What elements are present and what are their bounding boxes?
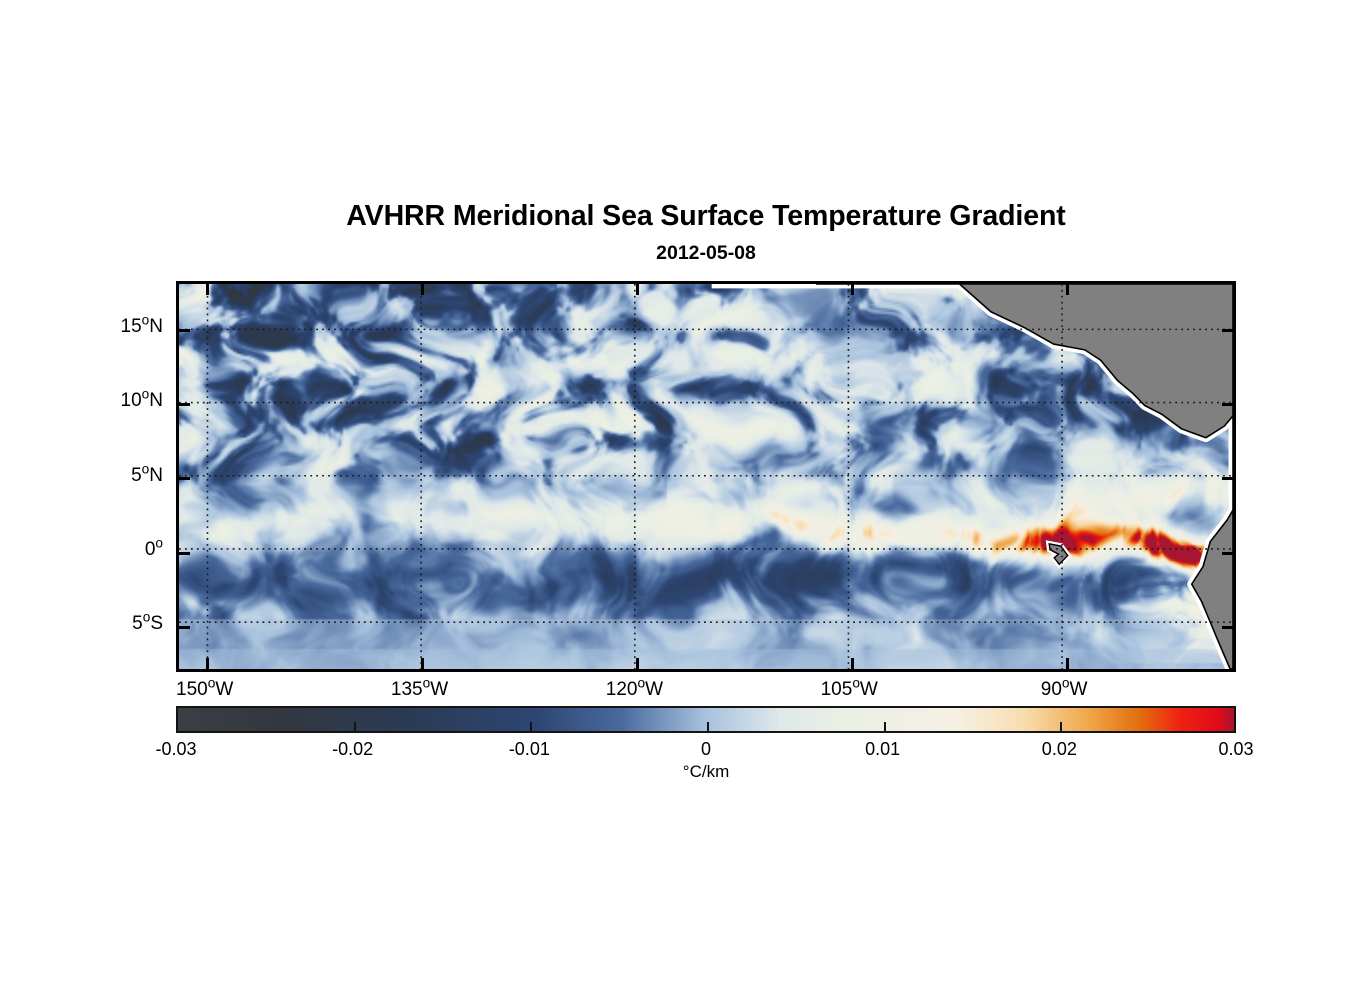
colorbar-label-2: -0.01: [509, 739, 550, 760]
y-tick-0eq: [179, 552, 190, 555]
x-label-value: 135: [391, 679, 423, 700]
y-label-value: 15: [121, 316, 142, 337]
x-tick-90W: [1066, 658, 1069, 669]
y-tick-10N: [179, 403, 190, 406]
colorbar-tick-2: [530, 722, 532, 731]
x-label-hemisphere: W: [215, 679, 233, 700]
colorbar-gradient-fill: [178, 708, 1234, 731]
y-axis-label-10N: 10oN: [0, 390, 163, 412]
y-label-value: 0: [145, 539, 156, 560]
x-axis-label-135W: 135oW: [391, 679, 448, 701]
colorbar-tick-1: [354, 722, 356, 731]
y-tick-15N: [179, 329, 190, 332]
degree-symbol-icon: o: [1062, 676, 1070, 691]
colorbar-label-3: 0: [701, 739, 711, 760]
colorbar-tick-5: [1060, 722, 1062, 731]
x-tick-105W: [851, 658, 854, 669]
y-tick-15N: [1222, 329, 1233, 332]
colorbar: [176, 706, 1236, 733]
x-tick-135W: [421, 658, 424, 669]
map-axes: [176, 281, 1236, 672]
y-label-hemisphere: N: [149, 465, 163, 486]
degree-symbol-icon: o: [155, 536, 163, 551]
colorbar-label-5: 0.02: [1042, 739, 1077, 760]
x-axis-label-105W: 105oW: [821, 679, 878, 701]
y-label-value: 10: [121, 390, 142, 411]
y-tick-10N: [1222, 403, 1233, 406]
y-tick-5S: [1222, 626, 1233, 629]
x-tick-150W: [206, 658, 209, 669]
y-tick-5S: [179, 626, 190, 629]
x-axis-label-150W: 150oW: [176, 679, 233, 701]
y-axis-label-5S: 5oS: [0, 613, 163, 635]
figure-canvas: AVHRR Meridional Sea Surface Temperature…: [0, 0, 1356, 1000]
x-label-hemisphere: W: [860, 679, 878, 700]
x-tick-90W: [1066, 284, 1069, 295]
colorbar-tick-4: [884, 722, 886, 731]
colorbar-label-1: -0.02: [332, 739, 373, 760]
x-axis-label-120W: 120oW: [606, 679, 663, 701]
title-block: AVHRR Meridional Sea Surface Temperature…: [176, 200, 1236, 264]
y-label-value: 5: [132, 613, 143, 634]
x-label-value: 105: [821, 679, 853, 700]
colorbar-label-0: -0.03: [155, 739, 196, 760]
landmass-overlay: [179, 284, 1233, 669]
y-label-hemisphere: N: [149, 316, 163, 337]
x-tick-105W: [851, 284, 854, 295]
colorbar-label-4: 0.01: [865, 739, 900, 760]
land-mass-central-south-america: [813, 284, 1233, 669]
y-axis-label-15N: 15oN: [0, 316, 163, 338]
x-tick-135W: [421, 284, 424, 295]
colorbar-tick-3: [707, 722, 709, 731]
y-tick-5N: [179, 477, 190, 480]
x-label-hemisphere: W: [645, 679, 663, 700]
y-tick-5N: [1222, 477, 1233, 480]
x-tick-120W: [636, 658, 639, 669]
x-axis-label-90W: 90oW: [1041, 679, 1088, 701]
y-tick-0eq: [1222, 552, 1233, 555]
y-axis-label-5N: 5oN: [0, 465, 163, 487]
x-label-hemisphere: W: [1070, 679, 1088, 700]
y-axis-label-0equator: 0o: [0, 539, 163, 561]
colorbar-label-6: 0.03: [1218, 739, 1253, 760]
x-label-value: 150: [176, 679, 208, 700]
x-label-value: 120: [606, 679, 638, 700]
x-tick-120W: [636, 284, 639, 295]
y-label-hemisphere: S: [150, 613, 163, 634]
figure-subtitle-date: 2012-05-08: [176, 242, 1236, 264]
x-label-hemisphere: W: [430, 679, 448, 700]
colorbar-unit-label: °C/km: [683, 762, 729, 782]
y-label-value: 5: [131, 465, 142, 486]
page-title: AVHRR Meridional Sea Surface Temperature…: [176, 200, 1236, 233]
x-label-value: 90: [1041, 679, 1062, 700]
x-tick-150W: [206, 284, 209, 295]
y-label-hemisphere: N: [149, 390, 163, 411]
